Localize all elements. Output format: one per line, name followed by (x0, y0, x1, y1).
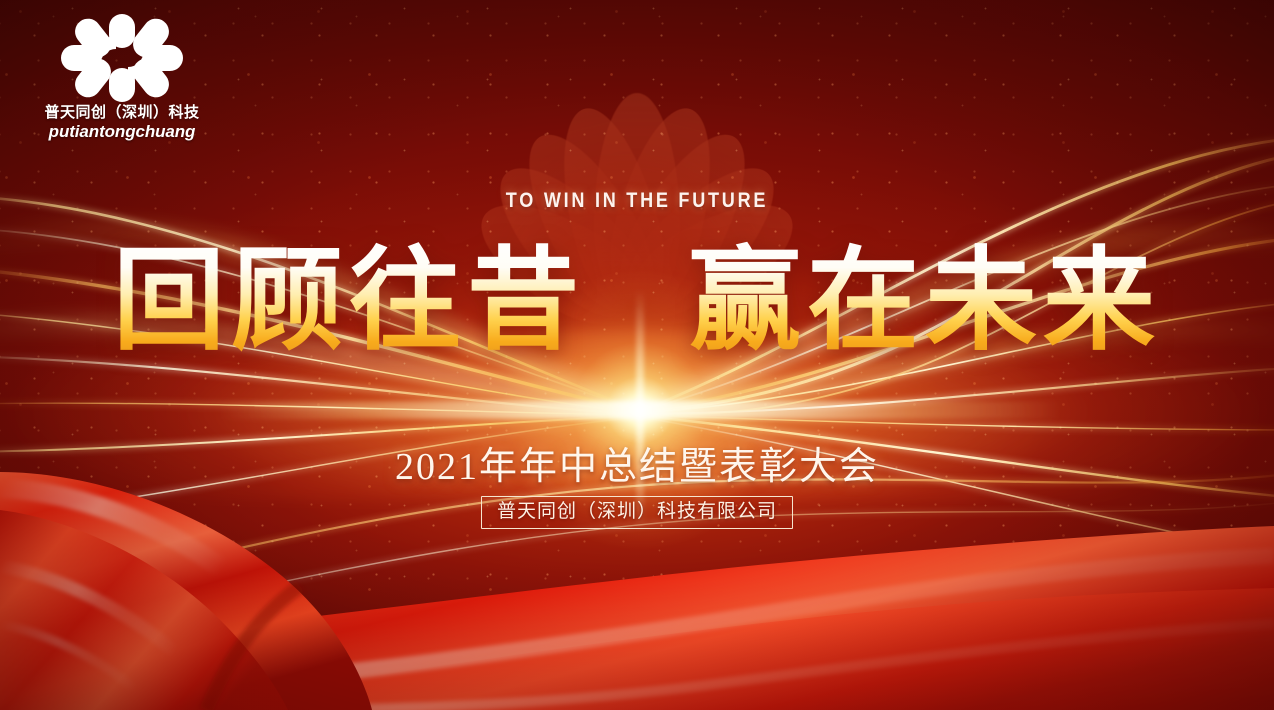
eyebrow-tagline: TO WIN IN THE FUTURE (89, 189, 1185, 213)
headline-part-1: 回顾往昔 (113, 240, 585, 364)
poster-canvas: 普天同创（深圳）科技 putiantongchuang TO WIN IN TH… (0, 0, 1274, 710)
headline-part-2: 赢在未来 (689, 240, 1161, 364)
molecule-network-logo-icon (22, 14, 222, 102)
headline: 回顾往昔 赢在未来 (0, 240, 1274, 364)
event-subtitle: 2021年年中总结暨表彰大会 (0, 444, 1274, 490)
logo-name-cn: 普天同创（深圳）科技 (22, 104, 222, 122)
company-logo: 普天同创（深圳）科技 putiantongchuang (22, 14, 222, 142)
company-name: 普天同创（深圳）科技有限公司 (497, 501, 777, 523)
red-satin-drape (0, 380, 1274, 710)
logo-name-pinyin: putiantongchuang (22, 122, 222, 142)
company-name-box: 普天同创（深圳）科技有限公司 (481, 496, 793, 529)
